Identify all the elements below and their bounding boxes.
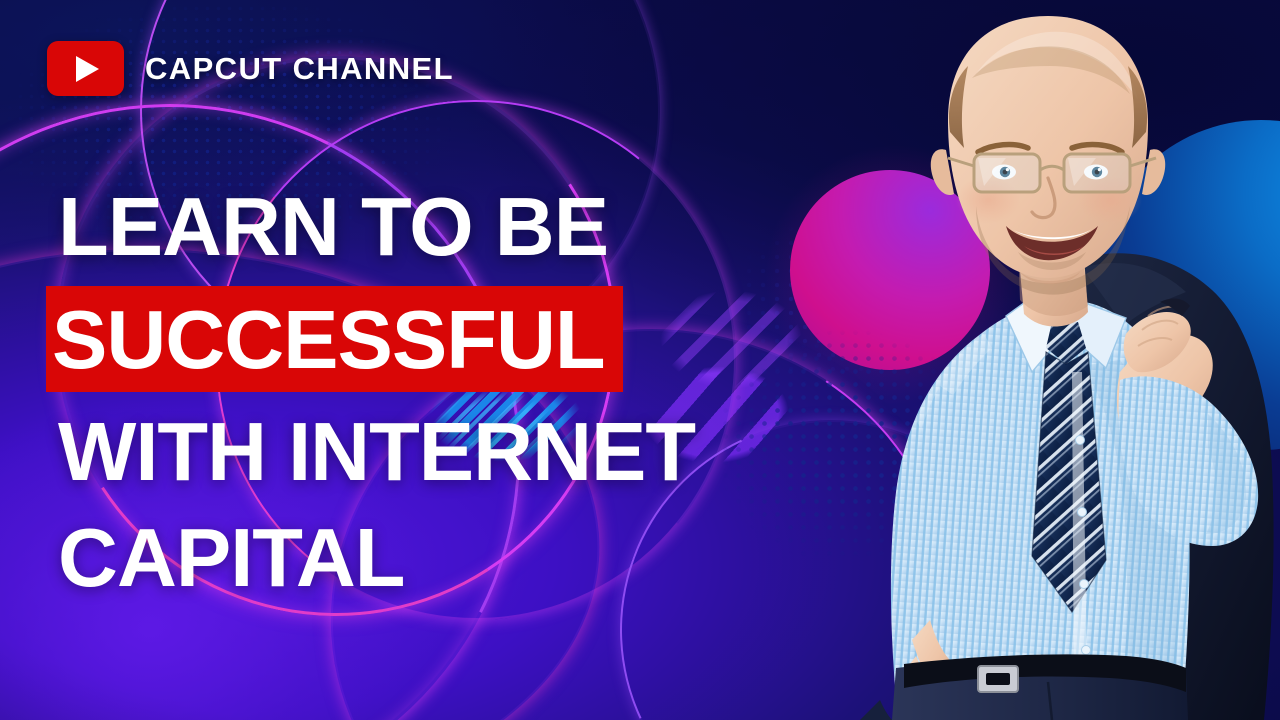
- headline-block: LEARN TO BE SUCCESSFUL WITH INTERNET CAP…: [58, 186, 858, 599]
- thumbnail-canvas: CAPCUT CHANNEL LEARN TO BE SUCCESSFUL WI…: [0, 0, 1280, 720]
- youtube-play-icon[interactable]: [47, 41, 124, 96]
- channel-badge[interactable]: CAPCUT CHANNEL: [47, 41, 454, 96]
- presenter-photo: [820, 0, 1280, 720]
- headline-line-3: WITH INTERNET: [58, 411, 858, 493]
- headline-highlight: SUCCESSFUL: [46, 286, 623, 391]
- headline-line-2-wrapper: SUCCESSFUL: [58, 286, 858, 391]
- headline-line-4: CAPITAL: [58, 517, 858, 599]
- channel-name: CAPCUT CHANNEL: [145, 51, 454, 87]
- headline-line-1: LEARN TO BE: [58, 186, 858, 268]
- play-triangle-icon: [76, 56, 99, 82]
